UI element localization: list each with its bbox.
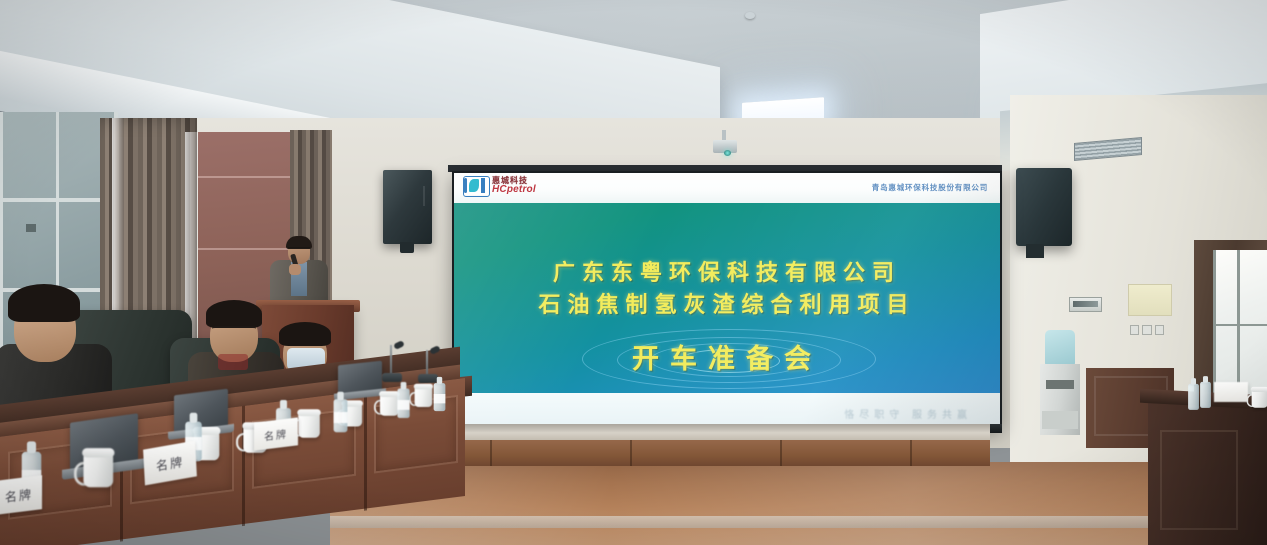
mic-2-head	[429, 345, 441, 355]
tea-mug-7[interactable]	[415, 383, 436, 407]
attendee-2-glasses	[212, 326, 256, 336]
mug-7-lid	[414, 384, 433, 390]
slide-main-title: 开车准备会	[454, 337, 1000, 376]
bottle-3-cap	[280, 400, 287, 409]
right-conference-table	[1148, 400, 1267, 545]
right-name-placard	[1214, 382, 1248, 402]
projector-lens-icon	[724, 150, 731, 156]
mug-1-body	[83, 454, 113, 488]
bottle-5-label	[397, 400, 409, 410]
mug-4-lid	[297, 409, 321, 416]
floor-edge-strip	[330, 516, 1267, 528]
smoke-detector-4	[745, 12, 755, 19]
attendee-1-hair	[8, 284, 80, 322]
bottle-6-label	[434, 394, 446, 403]
slide-header-band: 惠城科技 HCpetrol 青岛惠城环保科技股份有限公司	[454, 173, 1000, 203]
socket-2	[1142, 325, 1151, 335]
bottle-1-cap	[27, 441, 36, 453]
mic-1-base	[382, 373, 402, 382]
wall-speaker-left	[383, 170, 432, 244]
water-dispenser[interactable]	[1040, 330, 1080, 435]
right-bottle-2-body	[1200, 382, 1211, 408]
name-placard-3: 名牌	[254, 417, 298, 450]
wall-sockets[interactable]	[1130, 325, 1164, 335]
mic-2-neck	[426, 350, 428, 376]
dispenser-body	[1040, 364, 1080, 435]
water-bottle-5[interactable]	[397, 382, 409, 418]
water-bottle-4[interactable]	[334, 392, 348, 432]
bottle-6-cap	[437, 377, 442, 384]
company-logo: 惠城科技 HCpetrol	[463, 176, 536, 195]
mug-7-body	[415, 387, 433, 407]
stage-front-face	[430, 440, 990, 466]
right-table-bottle-1[interactable]	[1188, 378, 1199, 410]
tea-mug-1[interactable]	[83, 447, 118, 488]
wall-control-panel[interactable]	[1069, 297, 1102, 312]
hc-logo-mark-icon	[463, 176, 488, 195]
right-bottle-1-body	[1188, 384, 1199, 410]
mug-6-body	[380, 395, 399, 416]
right-table-mug[interactable]	[1252, 386, 1267, 408]
attendee-2-collar	[218, 354, 248, 370]
slide-title-line2: 石油焦制氢灰渣综合利用项目	[454, 287, 1000, 319]
floor-reflection	[330, 462, 1267, 545]
logo-company-en: HCpetrol	[492, 185, 536, 195]
mic-1-neck	[390, 345, 392, 375]
bottle-2-cap	[190, 413, 198, 423]
mug-1-lid	[82, 448, 114, 457]
name-placard-1: 名牌	[0, 475, 42, 515]
wall-speaker-right	[1016, 168, 1072, 246]
right-table-panel	[1160, 430, 1238, 530]
bottle-5-cap	[401, 382, 407, 389]
desk-microphone-1[interactable]	[382, 340, 406, 382]
projection-screen[interactable]: 惠城科技 HCpetrol 青岛惠城环保科技股份有限公司 广东东粤环保科技有限公…	[452, 171, 1002, 428]
socket-3	[1155, 325, 1164, 335]
attendee-3-hair	[279, 322, 331, 346]
water-bottle-6[interactable]	[434, 377, 446, 411]
right-table-bottle-2[interactable]	[1200, 376, 1211, 408]
right-bottle-2-cap	[1203, 376, 1208, 382]
right-mug-body	[1252, 390, 1267, 408]
attendee-2-hair	[206, 300, 262, 328]
slide-slogan: 恪尽职守 服务共赢	[844, 406, 972, 421]
wall-notice-board	[1128, 284, 1172, 316]
mug-4-body	[298, 413, 320, 438]
door-glass-pane	[1213, 250, 1267, 400]
slide-title-line1: 广东东粤环保科技有限公司	[454, 255, 1000, 287]
mic-1-head	[393, 340, 405, 350]
presenter-glasses	[288, 247, 310, 253]
tea-mug-4[interactable]	[298, 408, 323, 437]
slide-corporate-header: 青岛惠城环保科技股份有限公司	[872, 182, 988, 193]
slide-footer-band: 恪尽职守 服务共赢	[454, 393, 1000, 426]
stage-top-surface	[430, 424, 990, 440]
bottle-4-label	[334, 412, 348, 423]
presenter-hand	[289, 264, 301, 275]
right-bottle-1-cap	[1191, 378, 1196, 384]
bottle-4-cap	[337, 392, 343, 400]
dispenser-bottle	[1045, 330, 1075, 366]
socket-1	[1130, 325, 1139, 335]
meeting-room-photo: 惠城科技 HCpetrol 青岛惠城环保科技股份有限公司 广东东粤环保科技有限公…	[0, 0, 1267, 545]
right-mug-lid	[1251, 387, 1267, 392]
slide-body: 广东东粤环保科技有限公司 石油焦制氢灰渣综合利用项目 开车准备会	[454, 203, 1000, 393]
